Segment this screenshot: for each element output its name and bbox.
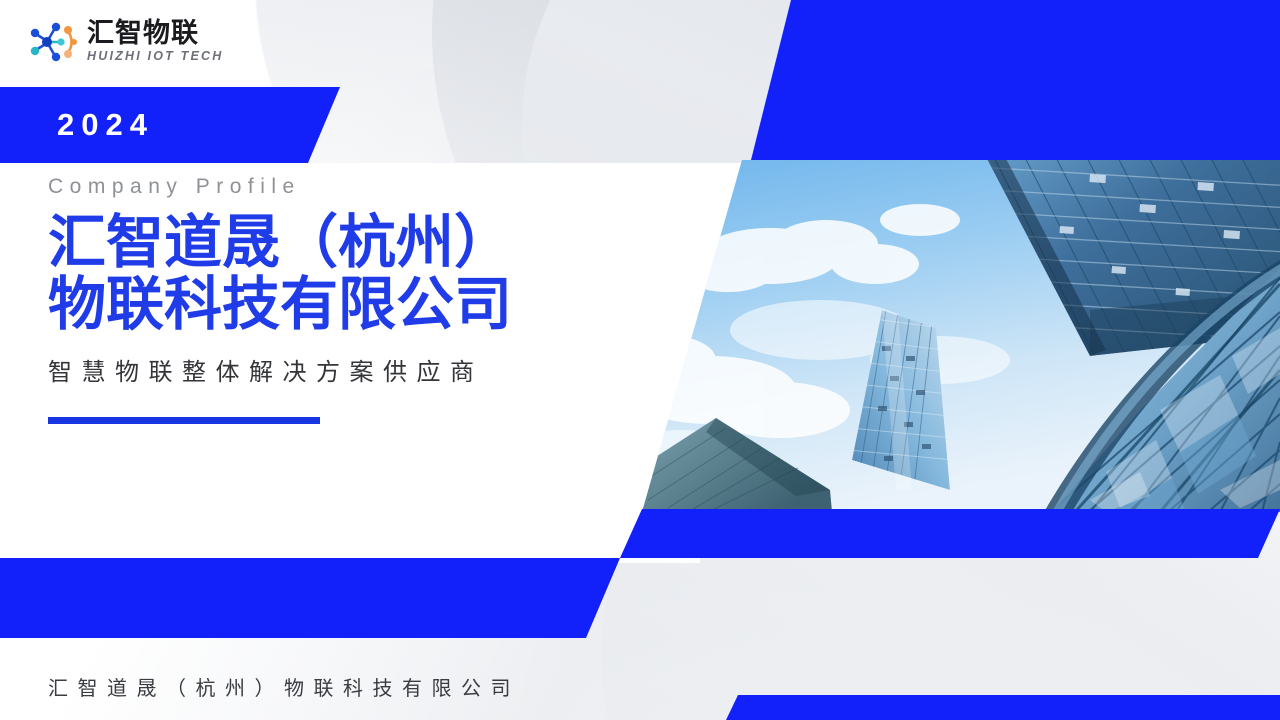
decor-blue-strip-under-photo	[620, 509, 1280, 558]
decor-blue-bar-bottom-right	[726, 695, 1280, 720]
hero-tagline: 智慧物联整体解决方案供应商	[48, 352, 512, 387]
hero-accent-rule	[48, 417, 320, 424]
molecule-network-icon	[28, 18, 78, 66]
decor-blue-parallelogram-top-right	[750, 0, 1280, 164]
footer-company-name: 汇智道晟（杭州）物联科技有限公司	[48, 672, 520, 701]
hero-text-block: Company Profile 汇智道晟（杭州） 物联科技有限公司 智慧物联整体…	[48, 175, 512, 424]
year-banner: 2024	[0, 87, 340, 163]
logo-text-group: 汇智物联 HUIZHI IOT TECH	[87, 20, 223, 65]
company-logo[interactable]: 汇智物联 HUIZHI IOT TECH	[28, 18, 223, 66]
hero-title-line-1: 汇智道晟（杭州）	[48, 211, 512, 273]
hero-title: 汇智道晟（杭州） 物联科技有限公司	[48, 211, 512, 335]
logo-english-name: HUIZHI IOT TECH	[87, 49, 223, 65]
hero-title-line-2: 物联科技有限公司	[48, 273, 512, 335]
hero-eyebrow: Company Profile	[48, 175, 512, 199]
logo-chinese-name: 汇智物联	[87, 20, 223, 48]
decor-blue-parallelogram-bottom-left	[0, 558, 620, 638]
slide-canvas: 2024 汇智物联	[0, 0, 1280, 720]
year-label: 2024	[57, 107, 154, 143]
